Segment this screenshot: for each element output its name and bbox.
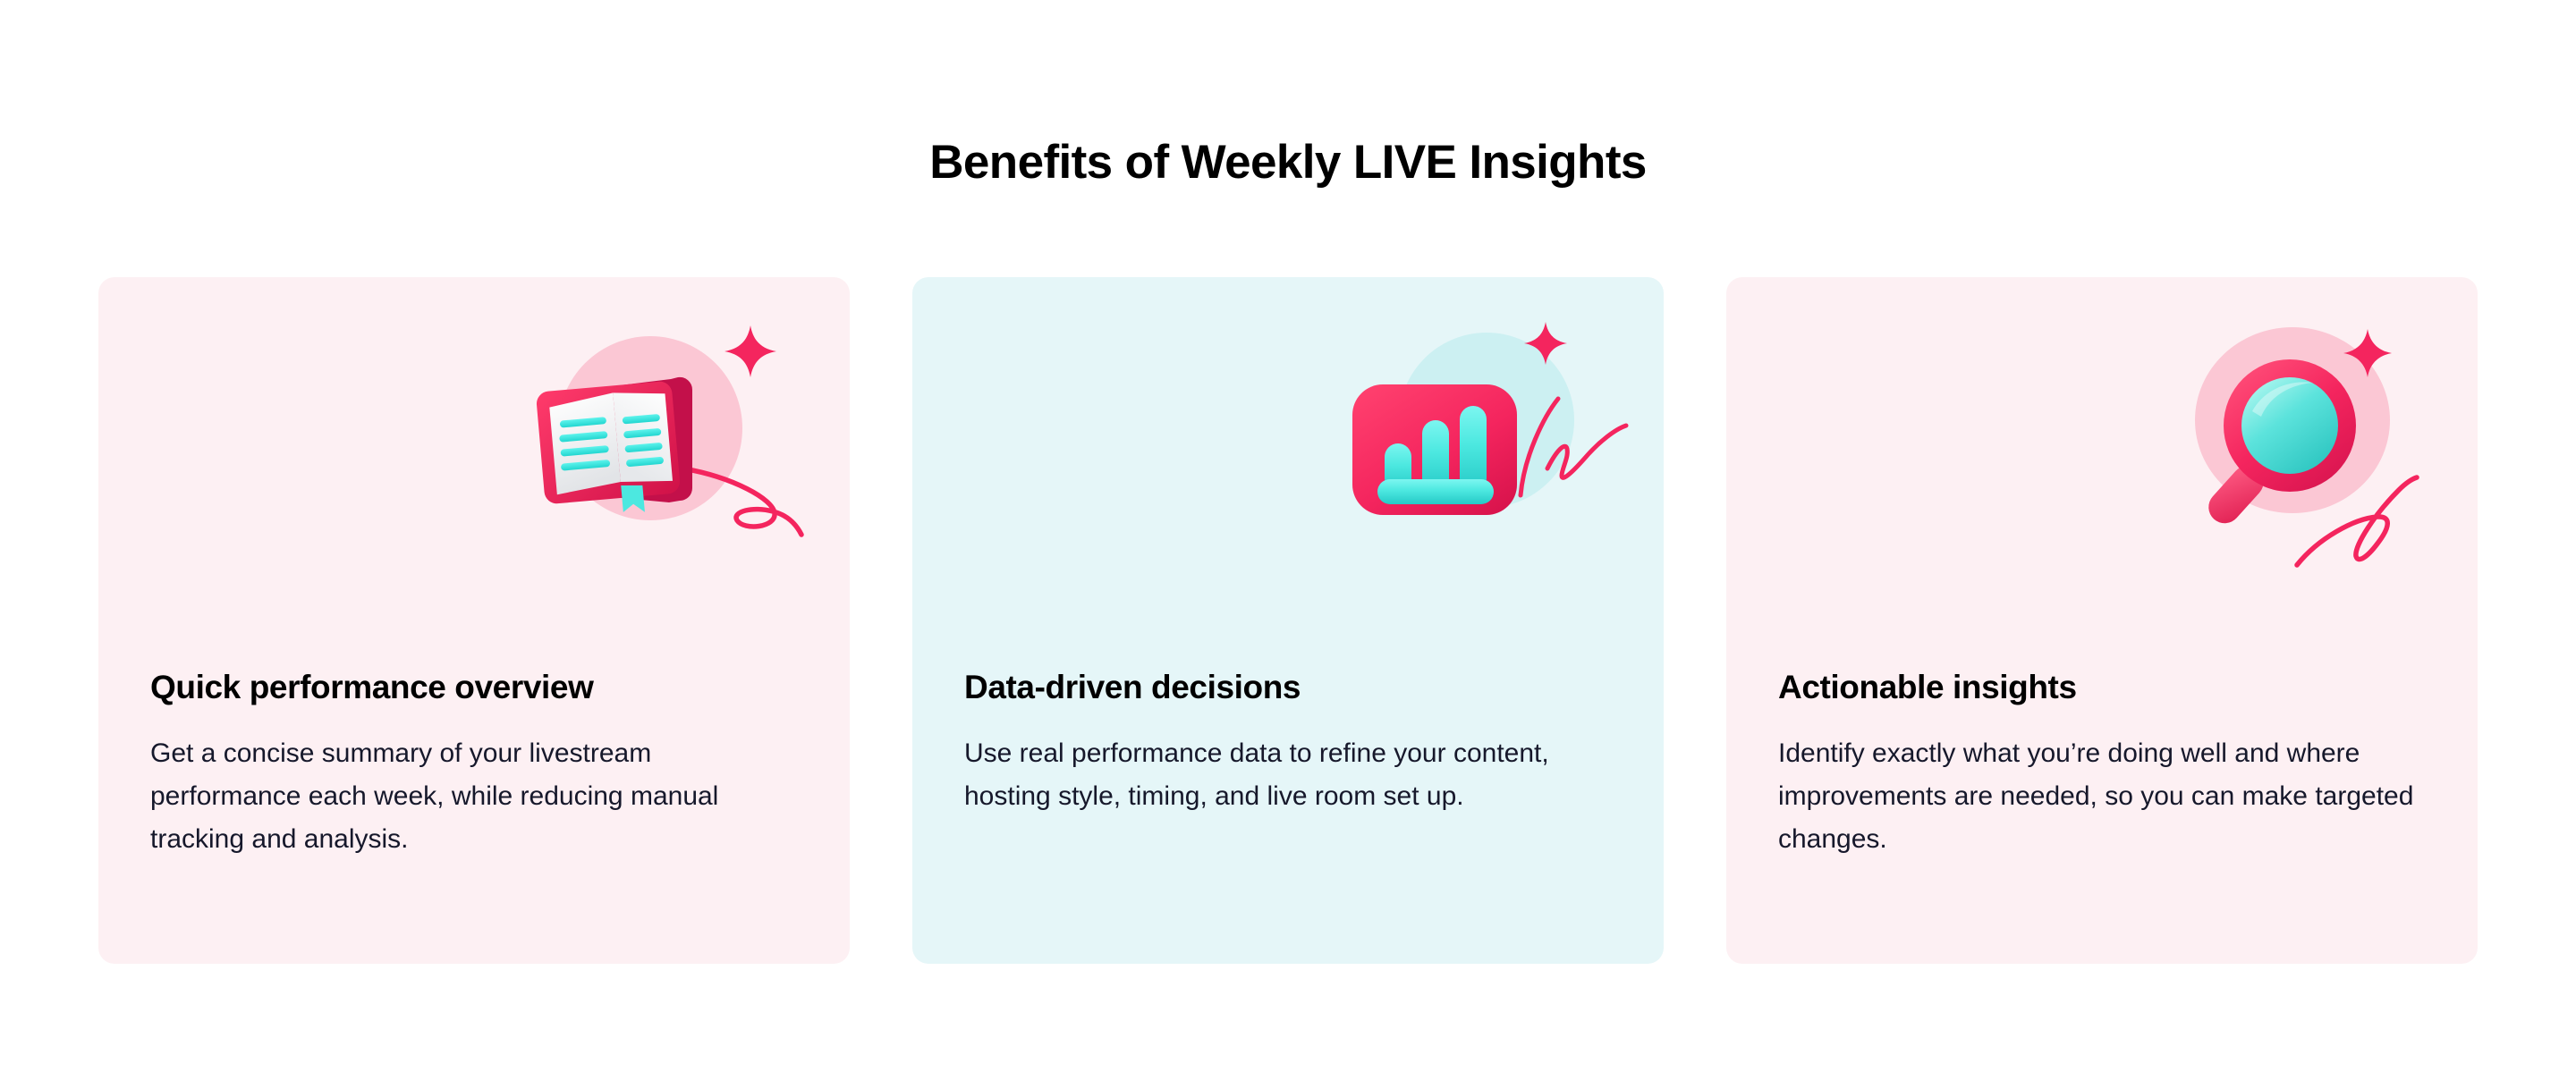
card-content: Actionable insights Identify exactly wha… xyxy=(1778,668,2436,861)
open-book-icon xyxy=(535,372,730,524)
card-body: Identify exactly what you’re doing well … xyxy=(1778,732,2436,861)
squiggle-loop-icon xyxy=(680,456,805,542)
bar-chart-icon xyxy=(1351,381,1522,517)
card-illustration xyxy=(1726,277,2478,635)
card-illustration xyxy=(912,277,1664,635)
benefit-card-data-driven-decisions[interactable]: Data-driven decisions Use real performan… xyxy=(912,277,1664,964)
card-content: Data-driven decisions Use real performan… xyxy=(964,668,1623,818)
decorative-blob xyxy=(558,336,742,520)
trend-squiggle-icon xyxy=(1517,392,1630,499)
magnifier-icon xyxy=(2186,352,2365,535)
squiggle-loop-icon xyxy=(2292,472,2422,572)
card-heading: Data-driven decisions xyxy=(964,668,1623,707)
card-content: Quick performance overview Get a concise… xyxy=(150,668,809,861)
benefit-card-actionable-insights[interactable]: Actionable insights Identify exactly wha… xyxy=(1726,277,2478,964)
benefits-section: Benefits of Weekly LIVE Insights xyxy=(0,0,2576,1080)
decorative-blob xyxy=(2195,327,2390,513)
benefit-card-quick-performance-overview[interactable]: Quick performance overview Get a concise… xyxy=(98,277,850,964)
card-heading: Quick performance overview xyxy=(150,668,809,707)
card-heading: Actionable insights xyxy=(1778,668,2436,707)
sparkle-icon xyxy=(2342,327,2394,379)
card-illustration xyxy=(98,277,850,635)
sparkle-icon xyxy=(723,324,778,379)
decorative-blob xyxy=(1399,333,1574,508)
sparkle-icon xyxy=(1522,320,1569,367)
page-title: Benefits of Weekly LIVE Insights xyxy=(0,132,2576,193)
card-body: Get a concise summary of your livestream… xyxy=(150,732,809,861)
card-body: Use real performance data to refine your… xyxy=(964,732,1623,818)
benefit-card-list: Quick performance overview Get a concise… xyxy=(98,277,2478,964)
